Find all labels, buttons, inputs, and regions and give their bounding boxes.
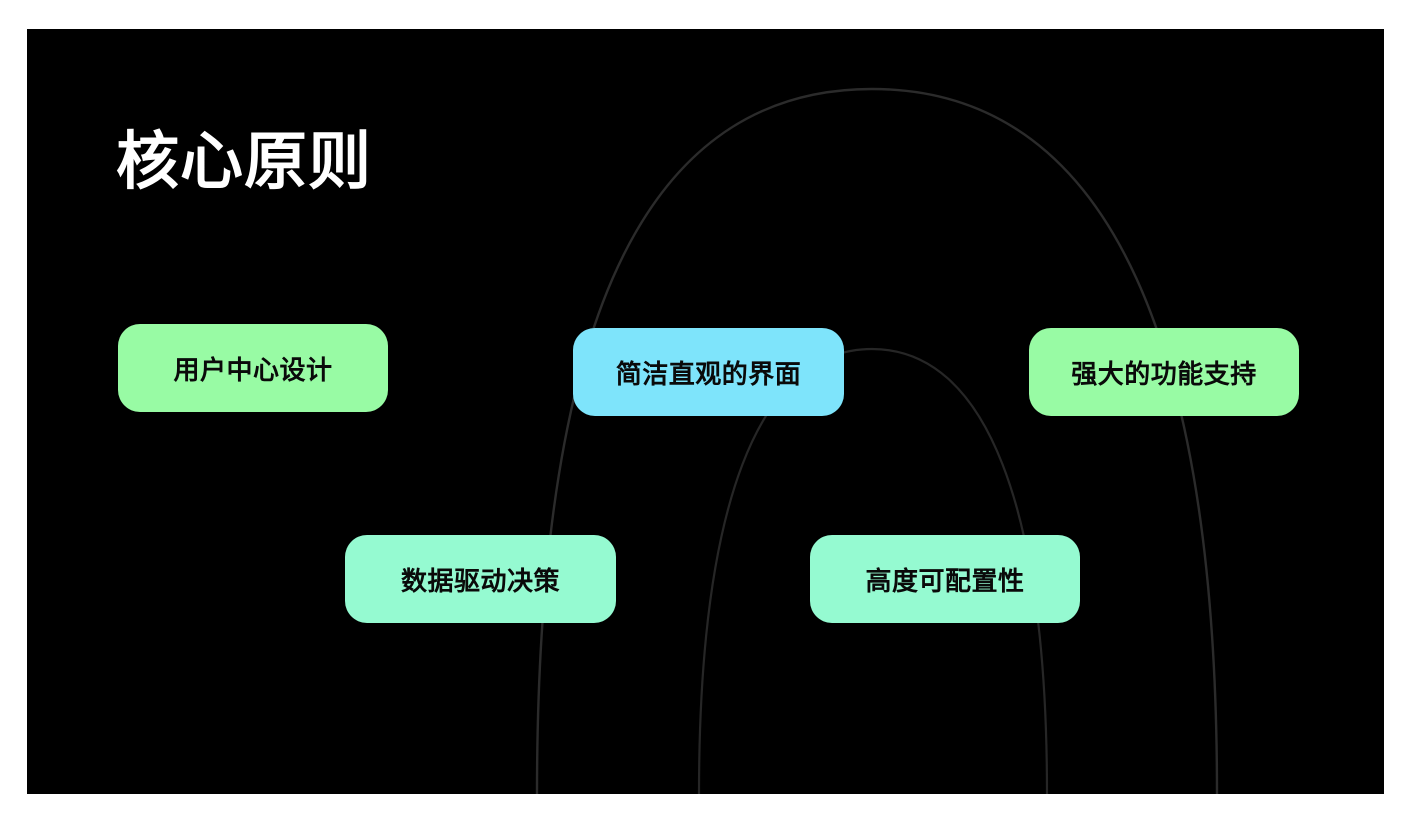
principle-pill-highly-configurable[interactable]: 高度可配置性 [810, 535, 1080, 623]
pill-label: 高度可配置性 [865, 561, 1024, 598]
pill-label: 简洁直观的界面 [616, 354, 802, 391]
pill-label: 强大的功能支持 [1071, 354, 1257, 391]
principle-pill-clean-intuitive-interface[interactable]: 简洁直观的界面 [573, 328, 844, 416]
principle-pill-user-centered-design[interactable]: 用户中心设计 [118, 324, 388, 412]
page-title: 核心原则 [116, 126, 372, 198]
pill-label: 数据驱动决策 [401, 561, 560, 598]
pill-label: 用户中心设计 [173, 350, 332, 387]
principle-pill-data-driven-decisions[interactable]: 数据驱动决策 [345, 535, 616, 623]
background-arc-outer [537, 89, 1217, 794]
slide-canvas: 核心原则 用户中心设计 简洁直观的界面 强大的功能支持 数据驱动决策 高度可配置… [27, 29, 1384, 794]
principle-pill-powerful-feature-support[interactable]: 强大的功能支持 [1029, 328, 1299, 416]
